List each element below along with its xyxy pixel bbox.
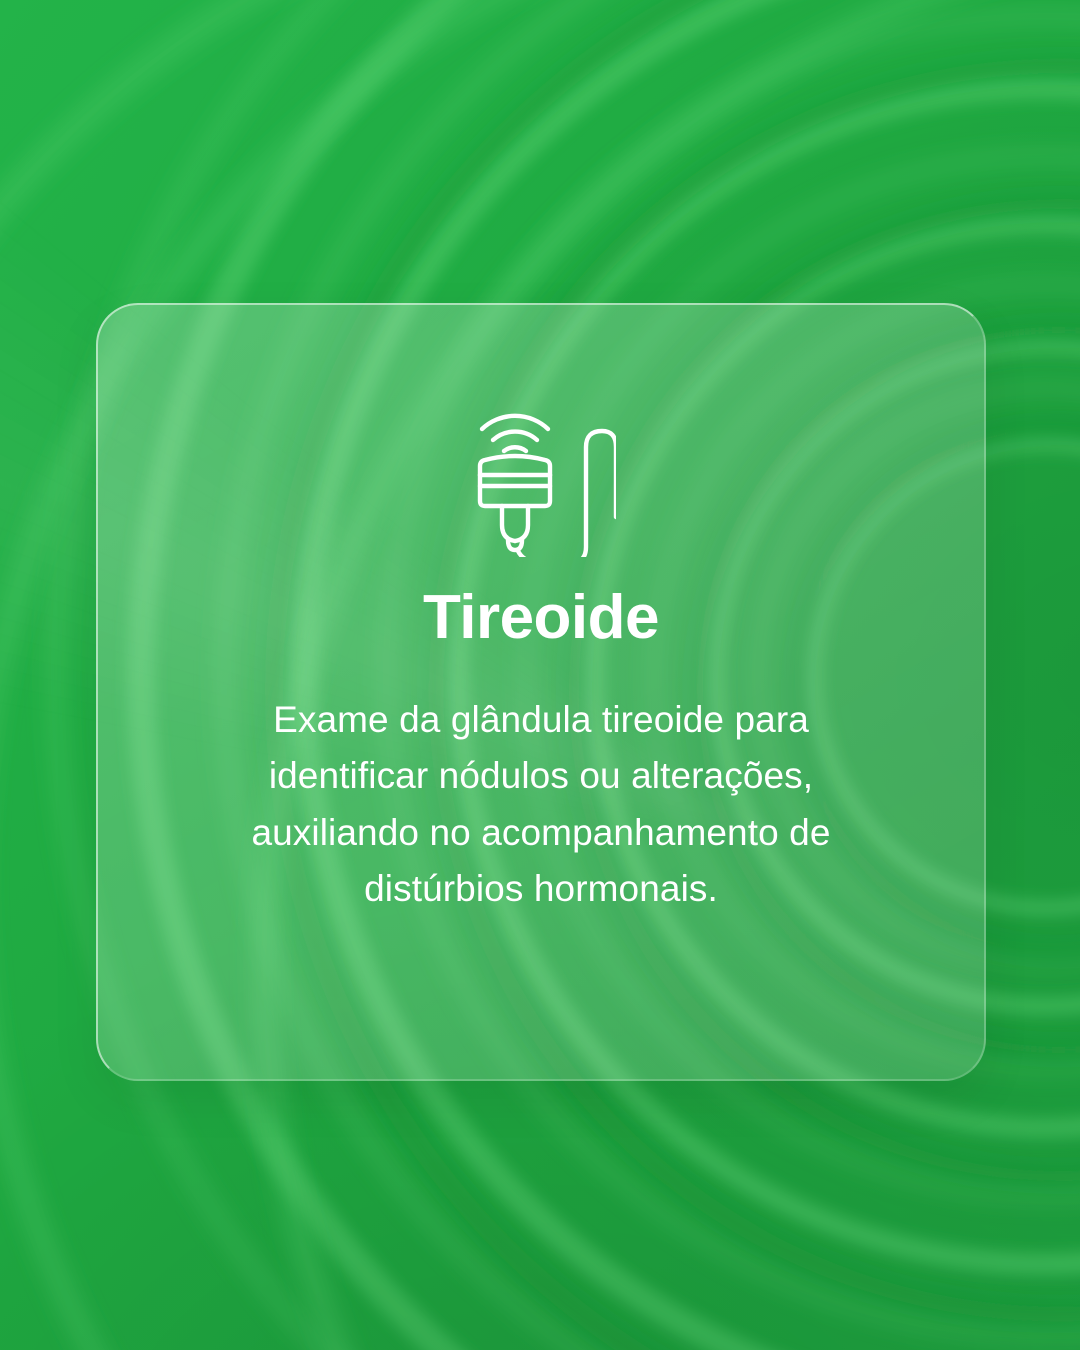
info-card: Tireoide Exame da glândula tireoide para… bbox=[96, 303, 986, 1081]
ultrasound-probe-icon bbox=[466, 397, 616, 557]
card-description: Exame da glândula tireoide para identifi… bbox=[196, 692, 886, 917]
page-title: Tireoide bbox=[423, 585, 659, 650]
